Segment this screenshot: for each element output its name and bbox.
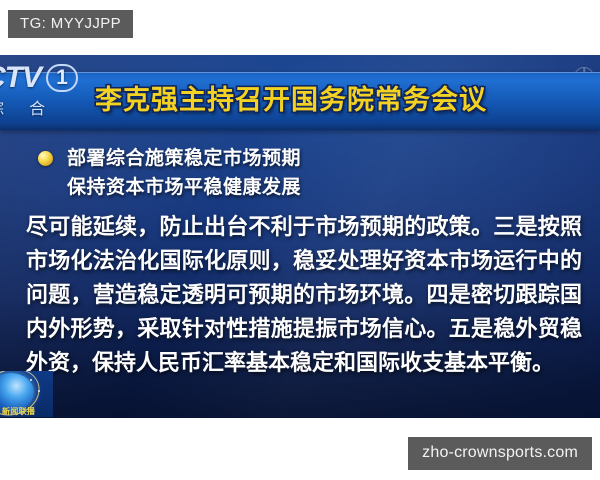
subheadline-block: 部署综合施策稳定市场预期 保持资本市场平稳健康发展	[38, 144, 301, 202]
subheadline-line-1: 部署综合施策稳定市场预期	[67, 144, 301, 173]
subheadline-lines: 部署综合施策稳定市场预期 保持资本市场平稳健康发展	[67, 144, 301, 202]
sparkle-icon	[30, 379, 32, 381]
video-frame: CTV 1 综 合 CCTV 李克强主持召开国务院常务会议 部署综合施策稳定市场…	[0, 55, 600, 418]
headline-title: 李克强主持召开国务院常务会议	[95, 86, 487, 116]
caption-paragraph: 尽可能延续，防止出台不利于市场预期的政策。三是按照市场化法治化国际化原则，稳妥处…	[26, 211, 582, 381]
sparkle-icon	[38, 390, 40, 392]
bullet-dot-icon	[38, 151, 53, 166]
screenshot-root: TG: MYYJJPP CTV 1 综 合 CCTV 李克强主持召开国务院常务会…	[0, 0, 600, 480]
program-corner-logo: 新闻联播	[0, 371, 53, 417]
telegram-handle-badge: TG: MYYJJPP	[8, 10, 133, 38]
subheadline-line-2: 保持资本市场平稳健康发展	[67, 173, 301, 202]
site-watermark-badge: zho-crownsports.com	[408, 437, 592, 470]
corner-logo-label: 新闻联播	[2, 406, 53, 417]
headline-banner: 李克强主持召开国务院常务会议	[0, 72, 600, 130]
